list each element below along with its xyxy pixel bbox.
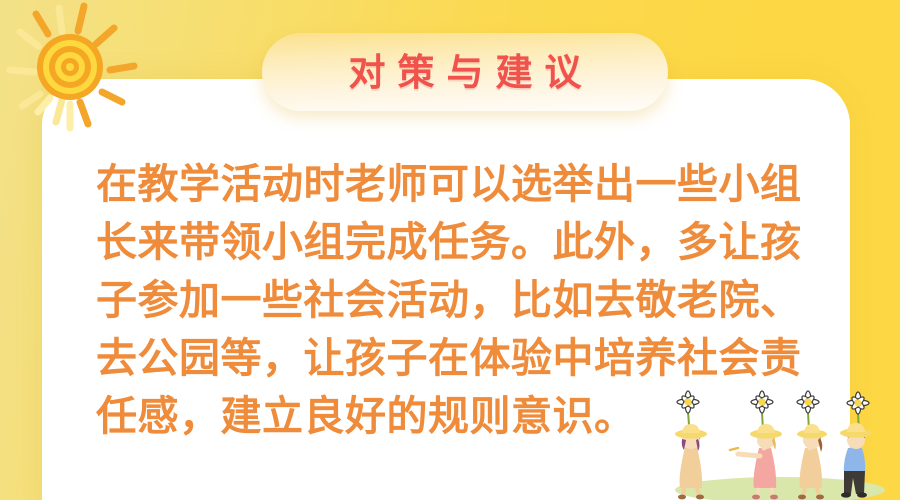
body-line: 子参加一些社会活动，比如去敬老院、: [96, 271, 812, 329]
daisy-flower: [847, 392, 869, 414]
child-figure: [840, 392, 872, 498]
daisy-flower: [797, 391, 819, 413]
body-line: 长来带领小组完成任务。此外，多让孩: [96, 213, 812, 271]
daisy-flower: [677, 391, 699, 413]
title-badge: 对策与建议: [262, 33, 668, 111]
sun-icon: [0, 0, 146, 144]
body-line: 在教学活动时老师可以选举出一些小组: [96, 155, 812, 213]
children-with-daisies-illustration: [660, 372, 900, 500]
daisy-flower: [751, 391, 773, 413]
page-title: 对策与建议: [337, 54, 594, 91]
